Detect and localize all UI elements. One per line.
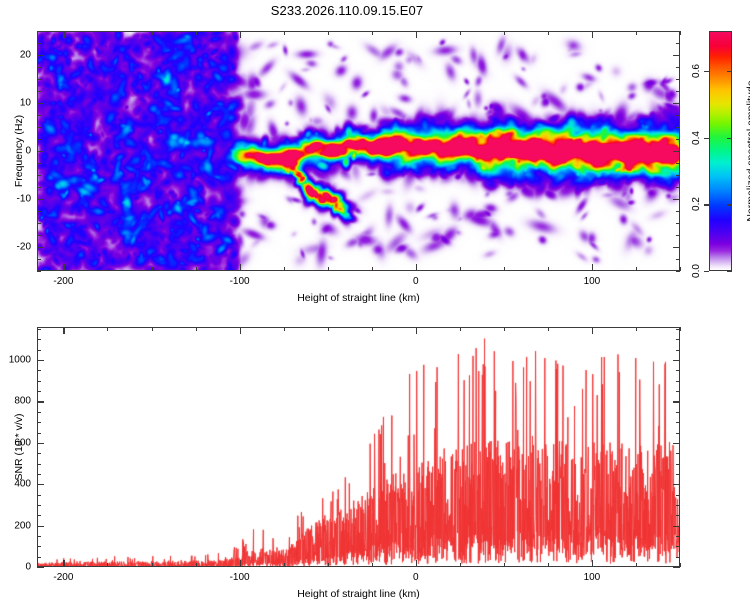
x-major-tick bbox=[416, 560, 417, 567]
colorbar-tick bbox=[704, 204, 709, 205]
colorbar-tick bbox=[704, 71, 709, 72]
y-axis-label: Frequency (Hz) bbox=[13, 115, 25, 187]
y-minor-tick bbox=[676, 115, 680, 116]
y-minor-tick bbox=[676, 381, 680, 382]
x-major-tick bbox=[240, 264, 241, 271]
x-minor-tick bbox=[152, 327, 153, 331]
y-axis-label: SNR (10 * v/v) bbox=[13, 413, 25, 480]
x-minor-tick bbox=[680, 267, 681, 271]
y-minor-tick bbox=[37, 350, 41, 351]
y-minor-tick bbox=[37, 175, 41, 176]
x-minor-tick bbox=[548, 327, 549, 331]
x-minor-tick bbox=[328, 327, 329, 331]
y-minor-tick bbox=[676, 31, 680, 32]
x-minor-tick bbox=[548, 563, 549, 567]
y-minor-tick bbox=[676, 271, 680, 272]
x-minor-tick bbox=[284, 563, 285, 567]
x-minor-tick bbox=[460, 563, 461, 567]
x-minor-tick bbox=[372, 563, 373, 567]
y-major-tick bbox=[673, 567, 680, 568]
y-minor-tick bbox=[676, 329, 680, 330]
x-major-tick bbox=[240, 327, 241, 334]
x-major-tick bbox=[416, 327, 417, 334]
x-minor-tick bbox=[372, 31, 373, 35]
y-minor-tick bbox=[37, 546, 41, 547]
y-minor-tick bbox=[676, 391, 680, 392]
y-major-tick bbox=[673, 443, 680, 444]
y-minor-tick bbox=[37, 391, 41, 392]
y-minor-tick bbox=[676, 139, 680, 140]
y-major-tick bbox=[37, 484, 44, 485]
x-minor-tick bbox=[284, 327, 285, 331]
y-minor-tick bbox=[676, 422, 680, 423]
y-major-tick bbox=[673, 55, 680, 56]
y-minor-tick bbox=[37, 422, 41, 423]
y-minor-tick bbox=[676, 91, 680, 92]
y-minor-tick bbox=[37, 127, 41, 128]
x-minor-tick bbox=[548, 31, 549, 35]
y-minor-tick bbox=[676, 370, 680, 371]
x-minor-tick bbox=[504, 31, 505, 35]
y-minor-tick bbox=[676, 339, 680, 340]
y-minor-tick bbox=[37, 381, 41, 382]
y-minor-tick bbox=[37, 505, 41, 506]
y-minor-tick bbox=[37, 453, 41, 454]
x-minor-tick bbox=[196, 31, 197, 35]
y-minor-tick bbox=[676, 536, 680, 537]
y-major-tick bbox=[673, 401, 680, 402]
x-minor-tick bbox=[196, 327, 197, 331]
x-minor-tick bbox=[504, 563, 505, 567]
y-major-tick bbox=[37, 55, 44, 56]
y-major-tick bbox=[37, 247, 44, 248]
y-minor-tick bbox=[37, 495, 41, 496]
x-minor-tick bbox=[460, 267, 461, 271]
x-minor-tick bbox=[284, 31, 285, 35]
x-minor-tick bbox=[680, 327, 681, 331]
colorbar-tick-label: 0.4 bbox=[691, 131, 702, 145]
x-major-tick bbox=[63, 31, 64, 38]
y-major-tick bbox=[37, 526, 44, 527]
y-minor-tick bbox=[676, 515, 680, 516]
y-minor-tick bbox=[37, 139, 41, 140]
y-tick-label: -20 bbox=[0, 242, 31, 253]
y-minor-tick bbox=[676, 79, 680, 80]
x-minor-tick bbox=[107, 327, 108, 331]
x-major-tick bbox=[592, 264, 593, 271]
x-minor-tick bbox=[107, 563, 108, 567]
colorbar-tick bbox=[727, 271, 732, 272]
y-major-tick bbox=[673, 360, 680, 361]
y-minor-tick bbox=[37, 211, 41, 212]
y-minor-tick bbox=[676, 67, 680, 68]
snr-panel[interactable] bbox=[37, 327, 680, 567]
x-axis-label: Height of straight line (km) bbox=[37, 292, 680, 304]
y-tick-label: -10 bbox=[0, 194, 31, 205]
x-minor-tick bbox=[328, 31, 329, 35]
y-minor-tick bbox=[37, 259, 41, 260]
y-minor-tick bbox=[676, 412, 680, 413]
colorbar-tick-label: 0.2 bbox=[691, 197, 702, 211]
spectrogram-canvas bbox=[38, 32, 680, 271]
colorbar-tick bbox=[727, 71, 732, 72]
x-tick-label: 100 bbox=[584, 276, 601, 287]
spectrogram-panel[interactable] bbox=[37, 31, 680, 271]
y-major-tick bbox=[37, 199, 44, 200]
x-minor-tick bbox=[504, 267, 505, 271]
y-minor-tick bbox=[37, 223, 41, 224]
x-tick-label: 0 bbox=[413, 572, 419, 583]
x-tick-label: 0 bbox=[413, 276, 419, 287]
x-tick-label: -100 bbox=[230, 572, 250, 583]
y-major-tick bbox=[673, 484, 680, 485]
x-minor-tick bbox=[107, 31, 108, 35]
x-minor-tick bbox=[372, 327, 373, 331]
colorbar-tick bbox=[727, 204, 732, 205]
x-minor-tick bbox=[196, 563, 197, 567]
y-major-tick bbox=[37, 103, 44, 104]
y-minor-tick bbox=[37, 235, 41, 236]
y-tick-label: 200 bbox=[0, 520, 31, 531]
colorbar-tick-label: 0.0 bbox=[691, 264, 702, 278]
y-minor-tick bbox=[676, 187, 680, 188]
y-tick-label: 0 bbox=[0, 562, 31, 573]
x-minor-tick bbox=[504, 327, 505, 331]
x-tick-label: -100 bbox=[230, 276, 250, 287]
x-major-tick bbox=[592, 560, 593, 567]
y-major-tick bbox=[37, 401, 44, 402]
x-tick-label: -200 bbox=[53, 276, 73, 287]
figure-root: S233.2026.110.09.15.E07 Normalized spect… bbox=[0, 0, 750, 600]
y-major-tick bbox=[37, 567, 44, 568]
y-minor-tick bbox=[37, 91, 41, 92]
y-tick-label: 1000 bbox=[0, 355, 31, 366]
x-minor-tick bbox=[460, 327, 461, 331]
y-major-tick bbox=[673, 247, 680, 248]
x-minor-tick bbox=[680, 563, 681, 567]
y-minor-tick bbox=[37, 557, 41, 558]
y-minor-tick bbox=[676, 223, 680, 224]
x-minor-tick bbox=[636, 31, 637, 35]
y-major-tick bbox=[37, 151, 44, 152]
y-minor-tick bbox=[676, 495, 680, 496]
x-minor-tick bbox=[636, 267, 637, 271]
x-minor-tick bbox=[460, 31, 461, 35]
y-minor-tick bbox=[37, 464, 41, 465]
y-tick-label: 10 bbox=[0, 98, 31, 109]
y-minor-tick bbox=[37, 412, 41, 413]
x-minor-tick bbox=[328, 267, 329, 271]
x-minor-tick bbox=[284, 267, 285, 271]
x-minor-tick bbox=[152, 563, 153, 567]
y-minor-tick bbox=[676, 175, 680, 176]
y-major-tick bbox=[673, 199, 680, 200]
x-minor-tick bbox=[328, 563, 329, 567]
y-minor-tick bbox=[676, 433, 680, 434]
x-minor-tick bbox=[152, 31, 153, 35]
y-minor-tick bbox=[676, 505, 680, 506]
y-minor-tick bbox=[676, 235, 680, 236]
x-minor-tick bbox=[152, 267, 153, 271]
colorbar-tick bbox=[727, 138, 732, 139]
y-major-tick bbox=[673, 103, 680, 104]
y-minor-tick bbox=[37, 339, 41, 340]
y-major-tick bbox=[37, 360, 44, 361]
x-major-tick bbox=[416, 264, 417, 271]
y-minor-tick bbox=[37, 329, 41, 330]
x-minor-tick bbox=[107, 267, 108, 271]
x-minor-tick bbox=[636, 563, 637, 567]
snr-canvas bbox=[38, 328, 680, 567]
y-minor-tick bbox=[37, 536, 41, 537]
y-minor-tick bbox=[37, 271, 41, 272]
y-minor-tick bbox=[676, 259, 680, 260]
x-minor-tick bbox=[372, 267, 373, 271]
x-major-tick bbox=[63, 264, 64, 271]
colorbar-tick-label: 0.6 bbox=[691, 64, 702, 78]
x-minor-tick bbox=[196, 267, 197, 271]
y-minor-tick bbox=[676, 350, 680, 351]
x-major-tick bbox=[592, 31, 593, 38]
x-major-tick bbox=[592, 327, 593, 334]
y-minor-tick bbox=[676, 211, 680, 212]
y-minor-tick bbox=[676, 43, 680, 44]
colorbar bbox=[709, 31, 732, 271]
y-minor-tick bbox=[37, 433, 41, 434]
y-major-tick bbox=[673, 526, 680, 527]
y-minor-tick bbox=[676, 127, 680, 128]
x-minor-tick bbox=[636, 327, 637, 331]
x-major-tick bbox=[63, 560, 64, 567]
x-minor-tick bbox=[548, 267, 549, 271]
x-major-tick bbox=[240, 560, 241, 567]
y-major-tick bbox=[673, 151, 680, 152]
x-minor-tick bbox=[680, 31, 681, 35]
colorbar-tick bbox=[704, 271, 709, 272]
colorbar-label: Normalized spectral amplitude bbox=[745, 80, 750, 221]
y-minor-tick bbox=[37, 163, 41, 164]
colorbar-tick bbox=[704, 138, 709, 139]
y-minor-tick bbox=[676, 557, 680, 558]
x-major-tick bbox=[416, 31, 417, 38]
y-minor-tick bbox=[37, 474, 41, 475]
y-minor-tick bbox=[37, 115, 41, 116]
y-minor-tick bbox=[37, 370, 41, 371]
figure-title: S233.2026.110.09.15.E07 bbox=[0, 3, 694, 18]
y-minor-tick bbox=[37, 43, 41, 44]
y-major-tick bbox=[37, 443, 44, 444]
y-minor-tick bbox=[676, 474, 680, 475]
y-tick-label: 20 bbox=[0, 50, 31, 61]
x-major-tick bbox=[63, 327, 64, 334]
y-tick-label: 800 bbox=[0, 396, 31, 407]
y-minor-tick bbox=[37, 515, 41, 516]
y-minor-tick bbox=[676, 546, 680, 547]
y-minor-tick bbox=[676, 464, 680, 465]
y-minor-tick bbox=[37, 31, 41, 32]
y-minor-tick bbox=[37, 187, 41, 188]
y-minor-tick bbox=[37, 79, 41, 80]
y-minor-tick bbox=[676, 453, 680, 454]
y-minor-tick bbox=[676, 163, 680, 164]
x-major-tick bbox=[240, 31, 241, 38]
x-axis-label: Height of straight line (km) bbox=[37, 588, 680, 600]
x-tick-label: -200 bbox=[53, 572, 73, 583]
y-minor-tick bbox=[37, 67, 41, 68]
x-tick-label: 100 bbox=[584, 572, 601, 583]
